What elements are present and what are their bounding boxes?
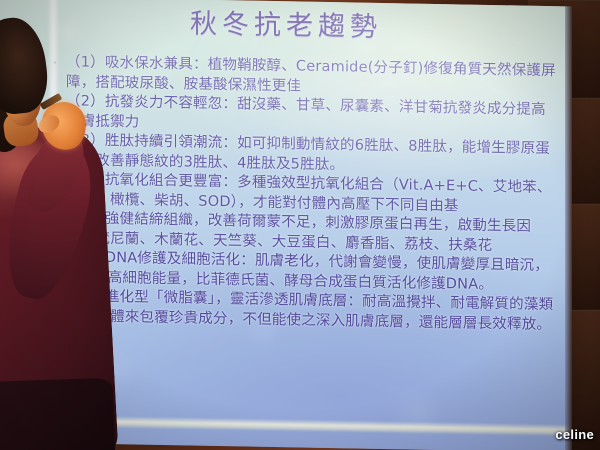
presenter-skirt [0, 378, 115, 450]
screen-right-edge [565, 0, 572, 450]
photo-of-projected-slide: 秋冬抗老趨勢 （1）吸水保水兼具：植物鞘胺醇、Ceramide(分子釘)修復角質… [0, 0, 600, 450]
watermark: celine [555, 427, 594, 442]
presenter [0, 0, 144, 450]
slide-title: 秋冬抗老趨勢 [190, 1, 490, 45]
